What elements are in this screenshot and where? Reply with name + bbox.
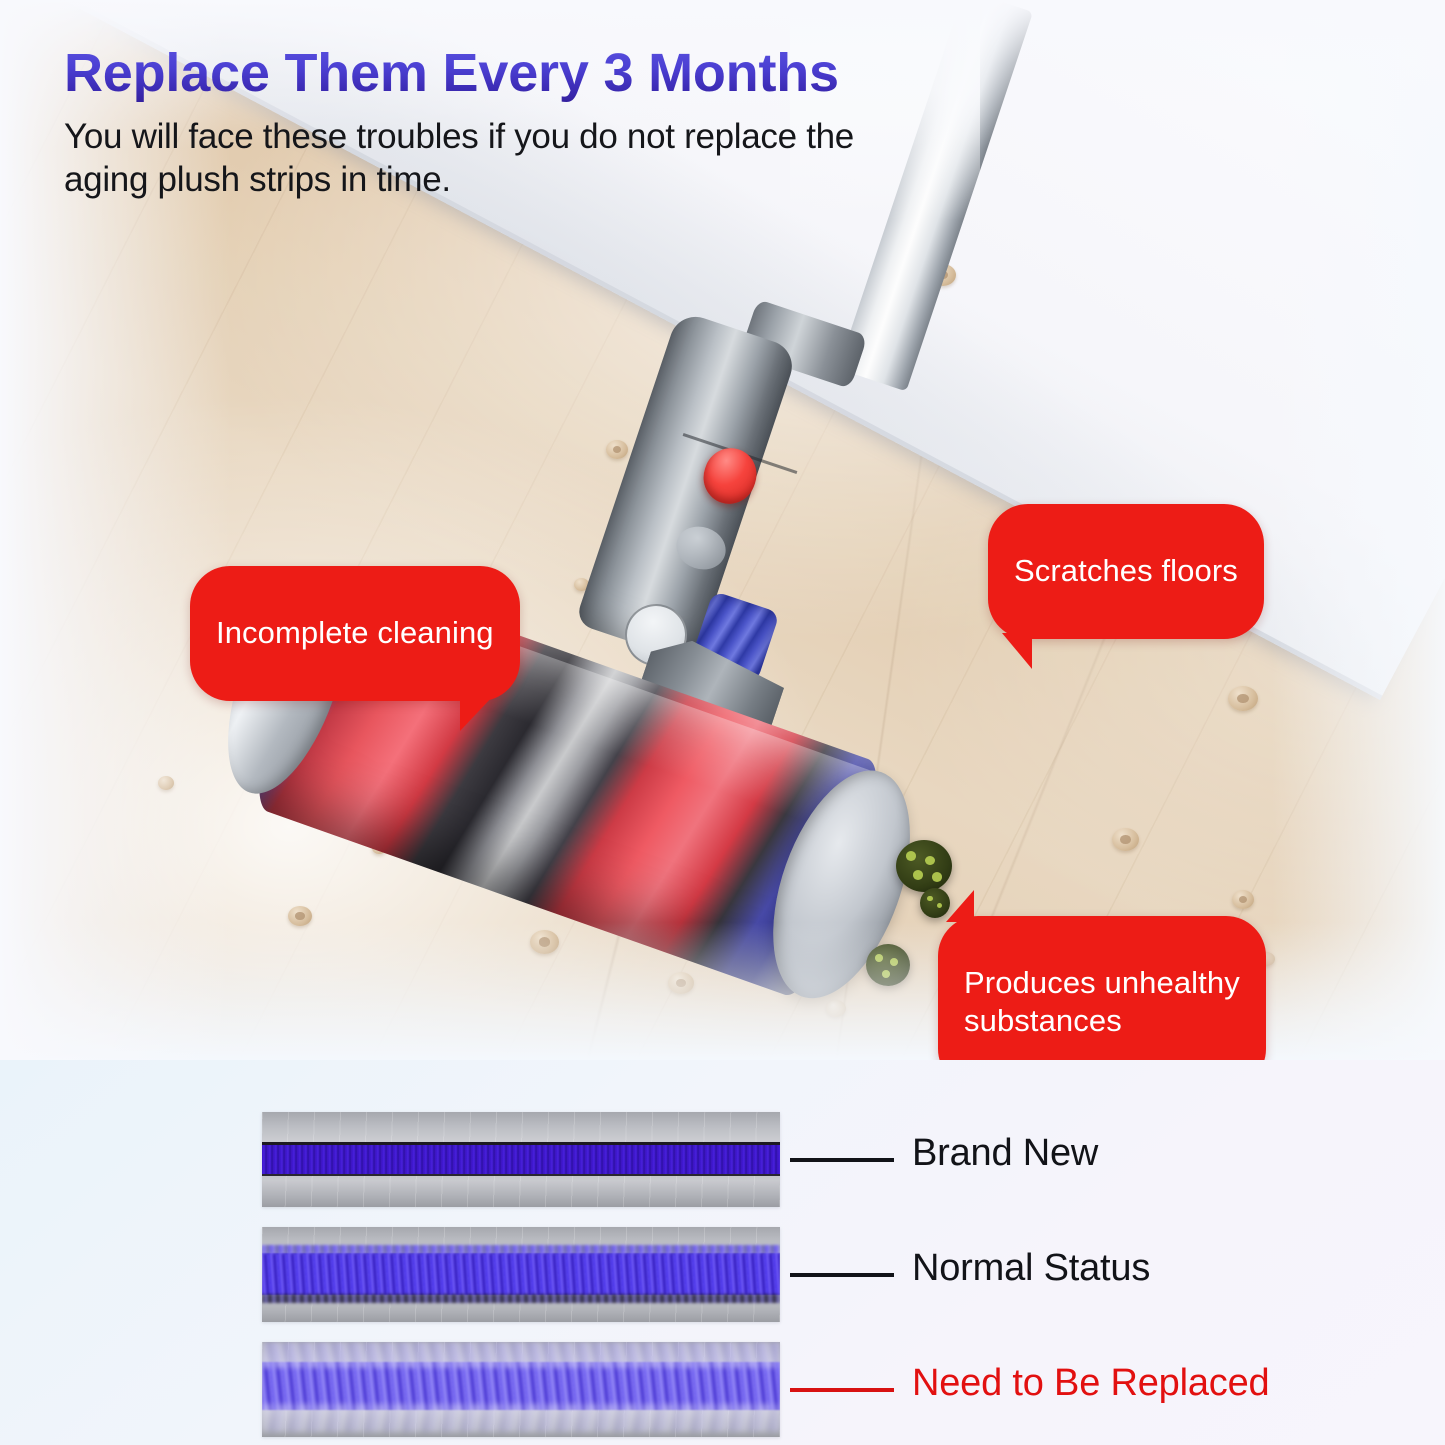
strip-photo-normal-status [262, 1227, 780, 1322]
leader-line [790, 1158, 894, 1162]
leader-line [790, 1273, 894, 1277]
callout-text: Produces unhealthy substances [964, 965, 1240, 1038]
bristle-band-normal [262, 1253, 780, 1295]
bristle-band-new [262, 1142, 780, 1176]
page-subtitle: You will face these troubles if you do n… [64, 116, 944, 201]
callout-text: Scratches floors [1014, 553, 1238, 588]
comparison-label-need-replaced: Need to Be Replaced [912, 1362, 1269, 1405]
callout-scratches-floors: Scratches floors [988, 504, 1264, 639]
headline-block: Replace Them Every 3 Months You will fac… [64, 44, 994, 202]
strip-condition-comparison: Brand New Normal Status Need to Be Repla… [0, 1060, 1445, 1445]
leader-line-red [790, 1388, 894, 1392]
comparison-row: Brand New [262, 1112, 1282, 1207]
callout-tail [460, 695, 494, 731]
page-title: Replace Them Every 3 Months [64, 44, 994, 102]
callout-incomplete-cleaning: Incomplete cleaning [190, 566, 520, 701]
callout-tail [946, 890, 974, 922]
strip-photo-brand-new [262, 1112, 780, 1207]
comparison-row: Normal Status [262, 1227, 1282, 1322]
infographic-canvas: Replace Them Every 3 Months You will fac… [0, 0, 1445, 1445]
strip-photo-needs-replacement [262, 1342, 780, 1437]
callout-tail [1002, 633, 1032, 669]
comparison-row: Need to Be Replaced [262, 1342, 1282, 1437]
callout-text: Incomplete cleaning [216, 615, 494, 650]
comparison-label-normal-status: Normal Status [912, 1247, 1150, 1290]
comparison-label-brand-new: Brand New [912, 1132, 1098, 1175]
bristle-band-worn [262, 1362, 780, 1410]
